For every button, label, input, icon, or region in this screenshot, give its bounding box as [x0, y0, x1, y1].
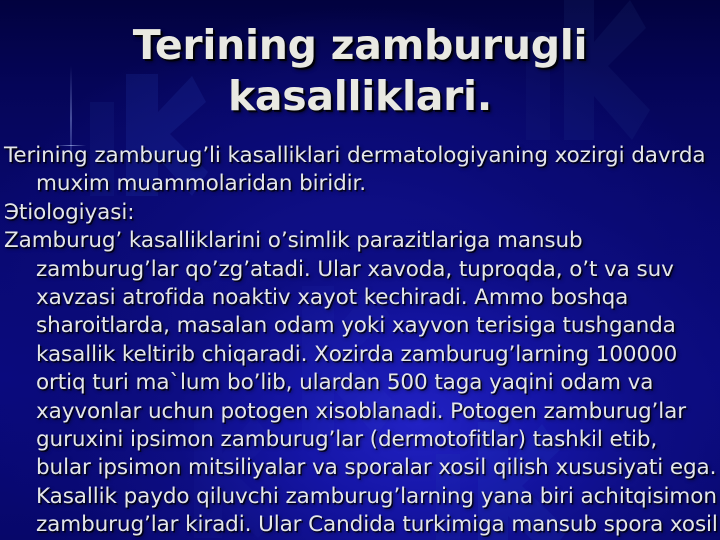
- slide-title-line: Terining zamburugli: [0, 20, 720, 71]
- body-paragraph-etiology-text: Zamburug’ kasalliklarini o’simlik parazi…: [4, 227, 718, 540]
- body-paragraph-etiology-heading: Эtiologiyasi:: [4, 199, 718, 227]
- body-paragraph-intro: Terining zamburug’li kasalliklari dermat…: [4, 142, 718, 199]
- slide-title: Terining zamburugli kasalliklari.: [0, 20, 720, 122]
- slide-body: Terining zamburug’li kasalliklari dermat…: [4, 142, 718, 540]
- slide-title-line: kasalliklari.: [0, 71, 720, 122]
- presentation-slide: Terining zamburugli kasalliklari. Terini…: [0, 0, 720, 540]
